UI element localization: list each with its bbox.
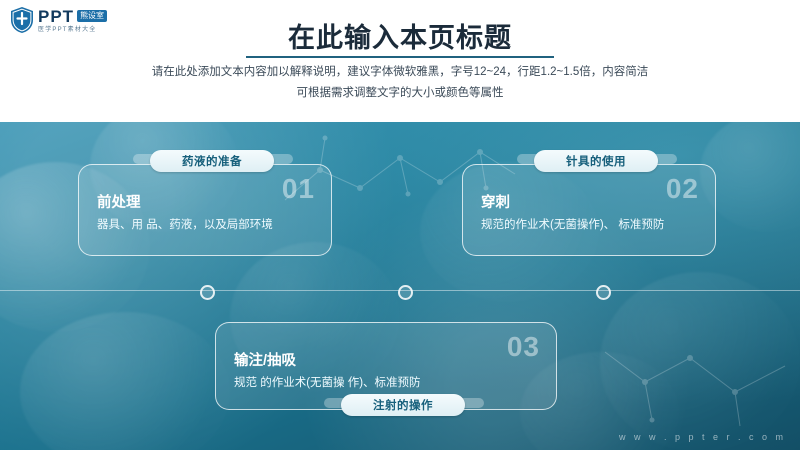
- step-pill-1[interactable]: 药液的准备: [150, 150, 274, 172]
- step-heading-1: 前处理: [97, 191, 141, 212]
- step-body-2: 规范的作业术(无菌操作)、 标准预防: [481, 217, 701, 234]
- step-number-3: 03: [507, 331, 540, 363]
- subtitle-line-1: 请在此处添加文本内容加以解释说明，建议字体微软雅黑，字号12~24，行距1.2~…: [0, 62, 800, 83]
- timeline-node-2: [398, 285, 413, 300]
- title-underline: [246, 56, 554, 58]
- page-subtitle: 请在此处添加文本内容加以解释说明，建议字体微软雅黑，字号12~24，行距1.2~…: [0, 62, 800, 104]
- step-body-1: 器具、用 品、药液，以及局部环境: [97, 217, 317, 234]
- site-watermark: w w w . p p t e r . c o m: [619, 432, 786, 442]
- step-pill-3[interactable]: 注射的操作: [341, 394, 465, 416]
- page-title: 在此输入本页标题: [0, 16, 800, 55]
- step-card-2[interactable]: 02 穿刺 规范的作业术(无菌操作)、 标准预防: [462, 164, 716, 256]
- subtitle-line-2: 可根据需求调整文字的大小或颜色等属性: [0, 83, 800, 104]
- step-heading-2: 穿刺: [481, 191, 510, 212]
- molecule-decoration-2: [600, 332, 790, 432]
- step-heading-3: 输注/抽吸: [234, 349, 296, 370]
- page-header: PPT 熊设室 医学PPT素材大全 在此输入本页标题 请在此处添加文本内容加以解…: [0, 0, 800, 122]
- step-number-2: 02: [666, 173, 699, 205]
- timeline-node-3: [596, 285, 611, 300]
- step-pill-2[interactable]: 针具的使用: [534, 150, 658, 172]
- step-body-3: 规范 的作业术(无菌操 作)、标准预防: [234, 375, 542, 392]
- step-number-1: 01: [282, 173, 315, 205]
- step-card-1[interactable]: 01 前处理 器具、用 品、药液，以及局部环境: [78, 164, 332, 256]
- timeline-node-1: [200, 285, 215, 300]
- hero-section: 01 前处理 器具、用 品、药液，以及局部环境 药液的准备 02 穿刺 规范的作…: [0, 122, 800, 450]
